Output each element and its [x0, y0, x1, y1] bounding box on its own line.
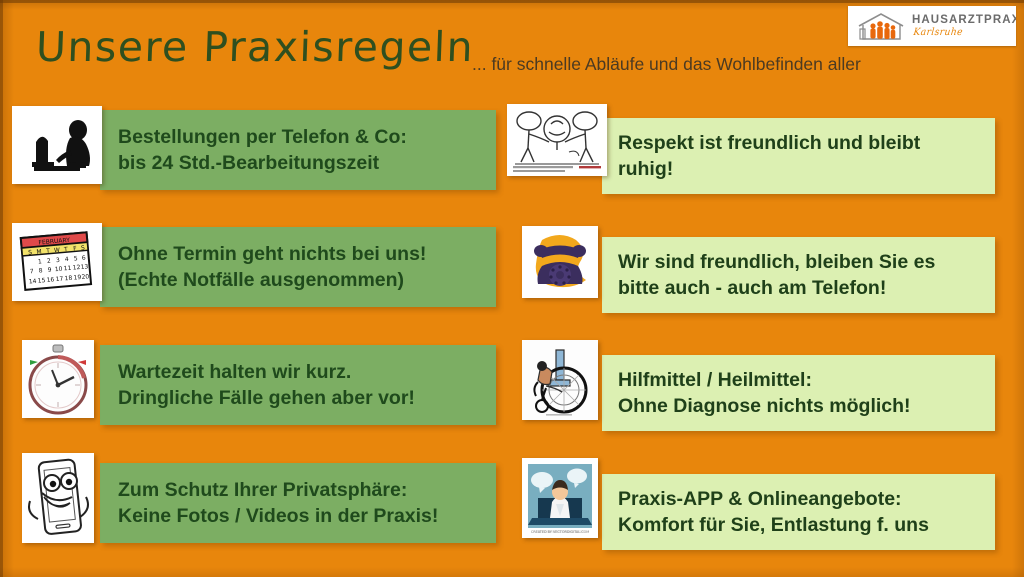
logo-brand-text: HAUSARZTPRAXIS — [912, 14, 1016, 26]
rule-text: Wartezeit halten wir kurz. Dringliche Fä… — [118, 359, 415, 411]
logo-location-text: Karlsruhe — [913, 27, 964, 38]
house-with-people-icon — [856, 12, 908, 41]
rule-card-left-3: Wartezeit halten wir kurz. Dringliche Fä… — [100, 345, 496, 425]
svg-text:8: 8 — [39, 267, 44, 274]
svg-text:T: T — [45, 248, 51, 255]
svg-text:M: M — [36, 248, 42, 255]
svg-text:4: 4 — [65, 256, 70, 263]
rule-text: Zum Schutz Ihrer Privatsphäre: Keine Fot… — [118, 477, 438, 529]
two-figures-handshake-icon — [507, 104, 607, 176]
svg-text:16: 16 — [46, 276, 54, 284]
svg-text:15: 15 — [37, 277, 45, 285]
rule-card-right-4: Praxis-APP & Onlineangebote: Komfort für… — [602, 474, 995, 550]
rule-card-left-2: Ohne Termin geht nichts bei uns! (Echte … — [100, 227, 496, 307]
rule-text: Bestellungen per Telefon & Co: bis 24 St… — [118, 124, 407, 176]
svg-text:CREATED BY VECTORDIGITAL.COM: CREATED BY VECTORDIGITAL.COM — [531, 530, 589, 534]
person-at-computer-silhouette-icon — [12, 106, 102, 184]
svg-text:18: 18 — [64, 275, 72, 283]
stopwatch-icon — [22, 340, 94, 418]
rotary-telephone-icon — [522, 226, 598, 298]
svg-text:W: W — [54, 247, 61, 254]
rule-card-right-1: Respekt ist freundlich und bleibt ruhig! — [602, 118, 995, 194]
page-title: Unsere Praxisregeln — [35, 24, 475, 70]
svg-text:5: 5 — [74, 255, 79, 262]
practice-logo: HAUSARZTPRAXIS Karlsruhe — [848, 6, 1016, 46]
svg-text:13: 13 — [80, 263, 88, 271]
rule-text: Respekt ist freundlich und bleibt ruhig! — [618, 130, 920, 182]
rule-card-left-4: Zum Schutz Ihrer Privatsphäre: Keine Fot… — [100, 463, 496, 543]
person-laptop-chat-icon: CREATED BY VECTORDIGITAL.COM — [522, 458, 598, 538]
rule-text: Hilfmittel / Heilmittel: Ohne Diagnose n… — [618, 367, 911, 419]
svg-text:T: T — [63, 246, 69, 253]
svg-text:6: 6 — [82, 254, 87, 261]
svg-text:7: 7 — [30, 268, 35, 275]
rule-text: Praxis-APP & Onlineangebote: Komfort für… — [618, 486, 929, 538]
rule-card-right-2: Wir sind freundlich, bleiben Sie es bitt… — [602, 237, 995, 313]
svg-text:10: 10 — [55, 266, 63, 274]
svg-text:3: 3 — [56, 257, 61, 264]
svg-text:17: 17 — [55, 276, 63, 284]
svg-text:20: 20 — [81, 273, 89, 281]
svg-text:9: 9 — [47, 267, 52, 274]
svg-text:14: 14 — [29, 278, 37, 286]
rule-text: Ohne Termin geht nichts bei uns! (Echte … — [118, 241, 426, 293]
svg-text:11: 11 — [64, 265, 72, 273]
rule-text: Wir sind freundlich, bleiben Sie es bitt… — [618, 249, 935, 301]
smartphone-cartoon-face-icon — [22, 453, 94, 543]
slide-praxisregeln: Unsere Praxisregeln ... für schnelle Abl… — [0, 0, 1024, 577]
rule-card-right-3: Hilfmittel / Heilmittel: Ohne Diagnose n… — [602, 355, 995, 431]
svg-text:1: 1 — [38, 258, 43, 265]
page-subtitle: ... für schnelle Abläufe und das Wohlbef… — [472, 53, 861, 75]
wheelchair-icon — [522, 340, 598, 420]
calendar-february-icon: FEBRUARY SMT WTFS 123 456 789 10111213 1… — [12, 223, 102, 301]
svg-text:2: 2 — [47, 258, 52, 265]
rule-card-left-1: Bestellungen per Telefon & Co: bis 24 St… — [100, 110, 496, 190]
